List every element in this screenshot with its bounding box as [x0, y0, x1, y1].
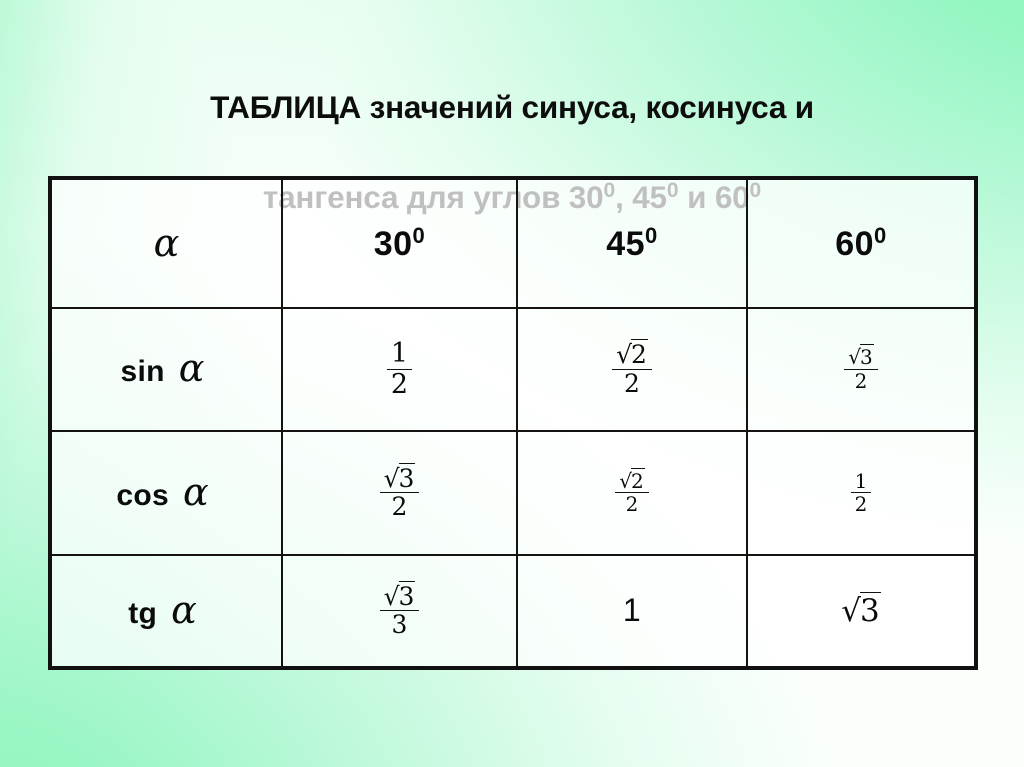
fraction-denominator: 2 — [380, 493, 420, 520]
radical-sign: √ — [616, 340, 632, 369]
header-cell-angle-45: 450 — [517, 178, 747, 308]
angle-45-label: 450 — [606, 225, 658, 263]
fraction-numerator: √3 — [380, 466, 420, 494]
radical-sign: √ — [384, 464, 400, 493]
header-cell-angle-60: 600 — [747, 178, 976, 308]
fraction-numerator: 1 — [387, 340, 412, 370]
fraction-denominator: 2 — [612, 370, 652, 397]
fraction-numerator: √2 — [612, 342, 652, 370]
angle-60-value: 60 — [835, 225, 874, 263]
tg-function-name: tg — [128, 597, 157, 631]
radicand: 3 — [399, 581, 416, 611]
table-row-sin: sin α 1 2 √2 2 — [50, 308, 976, 432]
cell-sin-45: √2 2 — [517, 308, 747, 432]
slide-title-line-1: ТАБЛИЦА значений синуса, косинуса и — [0, 86, 1024, 128]
sqrt-icon: √3 — [384, 466, 416, 492]
cell-tg-60: √3 — [747, 555, 976, 668]
trig-values-table: α 300 450 600 sin α — [48, 176, 978, 670]
angle-45-degree-icon: 0 — [645, 223, 658, 248]
slide-title-line-1-text: ТАБЛИЦА значений синуса, косинуса и — [210, 89, 814, 125]
angle-60-label: 600 — [835, 225, 887, 263]
radicand: 2 — [631, 339, 648, 369]
sin-label-group: sin α — [121, 349, 205, 389]
fraction-one-half: 1 2 — [851, 471, 872, 515]
sqrt-icon: √3 — [841, 593, 881, 629]
sqrt-icon: √2 — [619, 471, 644, 491]
row-label-sin: sin α — [50, 308, 282, 432]
tg-label-group: tg α — [128, 591, 197, 631]
angle-30-label: 300 — [374, 225, 426, 263]
alpha-symbol: α — [154, 221, 180, 265]
cell-cos-30: √3 2 — [282, 431, 517, 555]
header-cell-angle-30: 300 — [282, 178, 517, 308]
fraction-sqrt3-over-2: √3 2 — [844, 347, 877, 391]
cell-tg-30: √3 3 — [282, 555, 517, 668]
cell-sin-60: √3 2 — [747, 308, 976, 432]
cos-function-name: cos — [116, 479, 169, 513]
fraction-one-half: 1 2 — [387, 340, 412, 398]
cell-tg-45: 1 — [517, 555, 747, 668]
tg-alpha-symbol: α — [171, 591, 197, 629]
fraction-numerator: 1 — [851, 471, 872, 493]
sqrt-icon: √3 — [384, 584, 416, 610]
cell-cos-45: √2 2 — [517, 431, 747, 555]
angle-45-value: 45 — [606, 225, 645, 263]
sin-alpha-symbol: α — [179, 349, 205, 387]
fraction-denominator: 2 — [844, 370, 877, 391]
cos-alpha-symbol: α — [183, 473, 209, 511]
fraction-denominator: 2 — [615, 493, 648, 514]
fraction-numerator: √3 — [844, 347, 877, 369]
table-row-tg: tg α √3 3 1 √3 — [50, 555, 976, 668]
radicand: 3 — [860, 592, 881, 629]
angle-30-value: 30 — [374, 225, 413, 263]
angle-30-degree-icon: 0 — [413, 223, 426, 248]
radicand: 3 — [399, 463, 416, 493]
table-row-cos: cos α √3 2 √2 2 — [50, 431, 976, 555]
radicand: 2 — [631, 468, 645, 493]
cos-label-group: cos α — [116, 473, 208, 513]
fraction-numerator: √3 — [380, 584, 420, 612]
radical-sign: √ — [384, 582, 400, 611]
sqrt-icon: √3 — [848, 347, 873, 367]
sqrt-icon: √2 — [616, 342, 648, 368]
fraction-sqrt2-over-2: √2 2 — [615, 471, 648, 515]
fraction-sqrt2-over-2: √2 2 — [612, 342, 652, 396]
radicand: 3 — [860, 344, 874, 369]
value-one: 1 — [623, 592, 641, 628]
fraction-numerator: √2 — [615, 471, 648, 493]
slide-canvas: ТАБЛИЦА значений синуса, косинуса и танг… — [0, 0, 1024, 767]
fraction-denominator: 2 — [851, 493, 872, 514]
row-label-tg: tg α — [50, 555, 282, 668]
table-header-row: α 300 450 600 — [50, 178, 976, 308]
fraction-sqrt3-over-2: √3 2 — [380, 466, 420, 520]
radical-sign: √ — [841, 593, 861, 629]
cell-cos-60: 1 2 — [747, 431, 976, 555]
sin-function-name: sin — [121, 355, 165, 389]
fraction-denominator: 2 — [387, 370, 412, 399]
header-cell-alpha: α — [50, 178, 282, 308]
fraction-denominator: 3 — [380, 611, 420, 638]
fraction-sqrt3-over-3: √3 3 — [380, 584, 420, 638]
row-label-cos: cos α — [50, 431, 282, 555]
cell-sin-30: 1 2 — [282, 308, 517, 432]
angle-60-degree-icon: 0 — [874, 223, 887, 248]
